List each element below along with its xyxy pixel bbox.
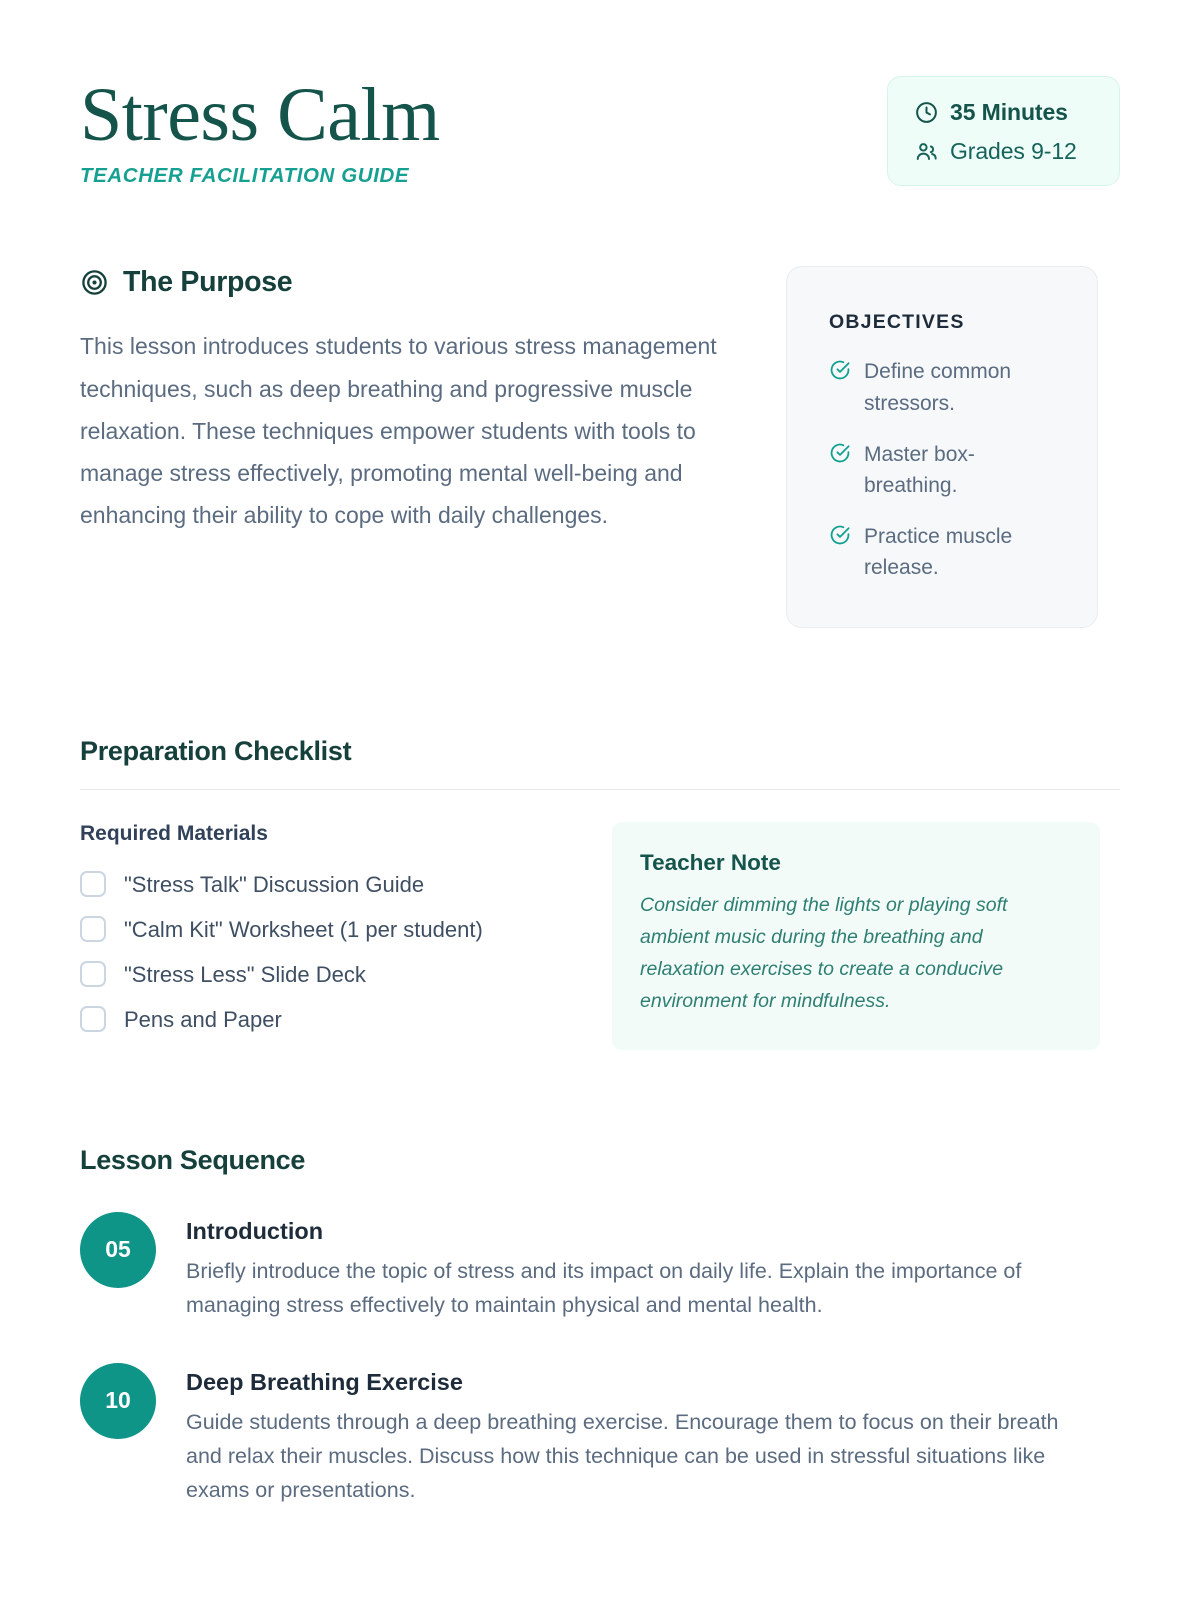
material-label: Pens and Paper [124, 1003, 282, 1036]
page-subtitle: TEACHER FACILITATION GUIDE [80, 164, 440, 188]
step-number-badge: 05 [80, 1212, 156, 1288]
required-materials-list: Required Materials "Stress Talk" Discuss… [80, 822, 572, 1036]
teacher-note-title: Teacher Note [640, 850, 1068, 876]
grades-label: Grades 9-12 [950, 138, 1077, 165]
material-checklist-item[interactable]: "Calm Kit" Worksheet (1 per student) [80, 913, 572, 946]
objective-item: Master box-breathing. [829, 439, 1067, 501]
lesson-steps: 05 Introduction Briefly introduce the to… [80, 1210, 1120, 1508]
material-checkbox[interactable] [80, 1006, 106, 1032]
page-title: Stress Calm [80, 78, 440, 152]
check-circle-icon [829, 442, 851, 464]
material-label: "Stress Talk" Discussion Guide [124, 868, 424, 901]
material-checkbox[interactable] [80, 916, 106, 942]
objectives-title: OBJECTIVES [829, 311, 1067, 334]
step-number-badge: 10 [80, 1363, 156, 1439]
material-checklist-item[interactable]: "Stress Less" Slide Deck [80, 958, 572, 991]
title-block: Stress Calm TEACHER FACILITATION GUIDE [80, 72, 440, 188]
section-divider [80, 789, 1120, 790]
lesson-sequence-section: Lesson Sequence 05 Introduction Briefly … [80, 1145, 1120, 1508]
purpose-heading-label: The Purpose [123, 266, 292, 299]
lesson-meta-badge: 35 Minutes Grades 9-12 [887, 76, 1120, 186]
material-checkbox[interactable] [80, 871, 106, 897]
objective-item: Define common stressors. [829, 356, 1067, 418]
purpose-heading: The Purpose [80, 266, 752, 299]
duration-label: 35 Minutes [950, 99, 1068, 126]
document-header: Stress Calm TEACHER FACILITATION GUIDE 3… [80, 72, 1120, 188]
purpose-body-text: This lesson introduces students to vario… [80, 325, 740, 535]
material-checklist-item[interactable]: Pens and Paper [80, 1003, 572, 1036]
check-circle-icon [829, 524, 851, 546]
clock-icon [914, 100, 939, 125]
step-title: Introduction [186, 1218, 1120, 1245]
material-checkbox[interactable] [80, 961, 106, 987]
preparation-section: Preparation Checklist Required Materials… [80, 736, 1120, 1050]
preparation-body: Required Materials "Stress Talk" Discuss… [80, 822, 1120, 1050]
objective-label: Define common stressors. [864, 356, 1067, 418]
step-title: Deep Breathing Exercise [186, 1369, 1120, 1396]
meta-grades: Grades 9-12 [914, 138, 1091, 165]
preparation-title: Preparation Checklist [80, 736, 1120, 767]
material-label: "Stress Less" Slide Deck [124, 958, 366, 991]
users-icon [914, 139, 939, 164]
step-body: Introduction Briefly introduce the topic… [186, 1210, 1120, 1323]
required-materials-label: Required Materials [80, 822, 572, 846]
lesson-step: 05 Introduction Briefly introduce the to… [80, 1210, 1120, 1323]
lesson-step: 10 Deep Breathing Exercise Guide student… [80, 1361, 1120, 1508]
step-body: Deep Breathing Exercise Guide students t… [186, 1361, 1120, 1508]
objective-item: Practice muscle release. [829, 521, 1067, 583]
purpose-main: The Purpose This lesson introduces stude… [80, 266, 752, 535]
document-page: Stress Calm TEACHER FACILITATION GUIDE 3… [0, 0, 1200, 1600]
objective-label: Practice muscle release. [864, 521, 1067, 583]
check-circle-icon [829, 359, 851, 381]
teacher-note-text: Consider dimming the lights or playing s… [640, 890, 1068, 1018]
target-icon [80, 268, 109, 297]
teacher-note-panel: Teacher Note Consider dimming the lights… [612, 822, 1100, 1050]
meta-duration: 35 Minutes [914, 99, 1091, 126]
objective-label: Master box-breathing. [864, 439, 1067, 501]
purpose-section: The Purpose This lesson introduces stude… [80, 266, 1120, 627]
step-description: Guide students through a deep breathing … [186, 1406, 1076, 1508]
step-description: Briefly introduce the topic of stress an… [186, 1255, 1076, 1323]
material-label: "Calm Kit" Worksheet (1 per student) [124, 913, 483, 946]
material-checklist-item[interactable]: "Stress Talk" Discussion Guide [80, 868, 572, 901]
lesson-sequence-title: Lesson Sequence [80, 1145, 1120, 1176]
objectives-card: OBJECTIVES Define common stressors. [786, 266, 1098, 627]
